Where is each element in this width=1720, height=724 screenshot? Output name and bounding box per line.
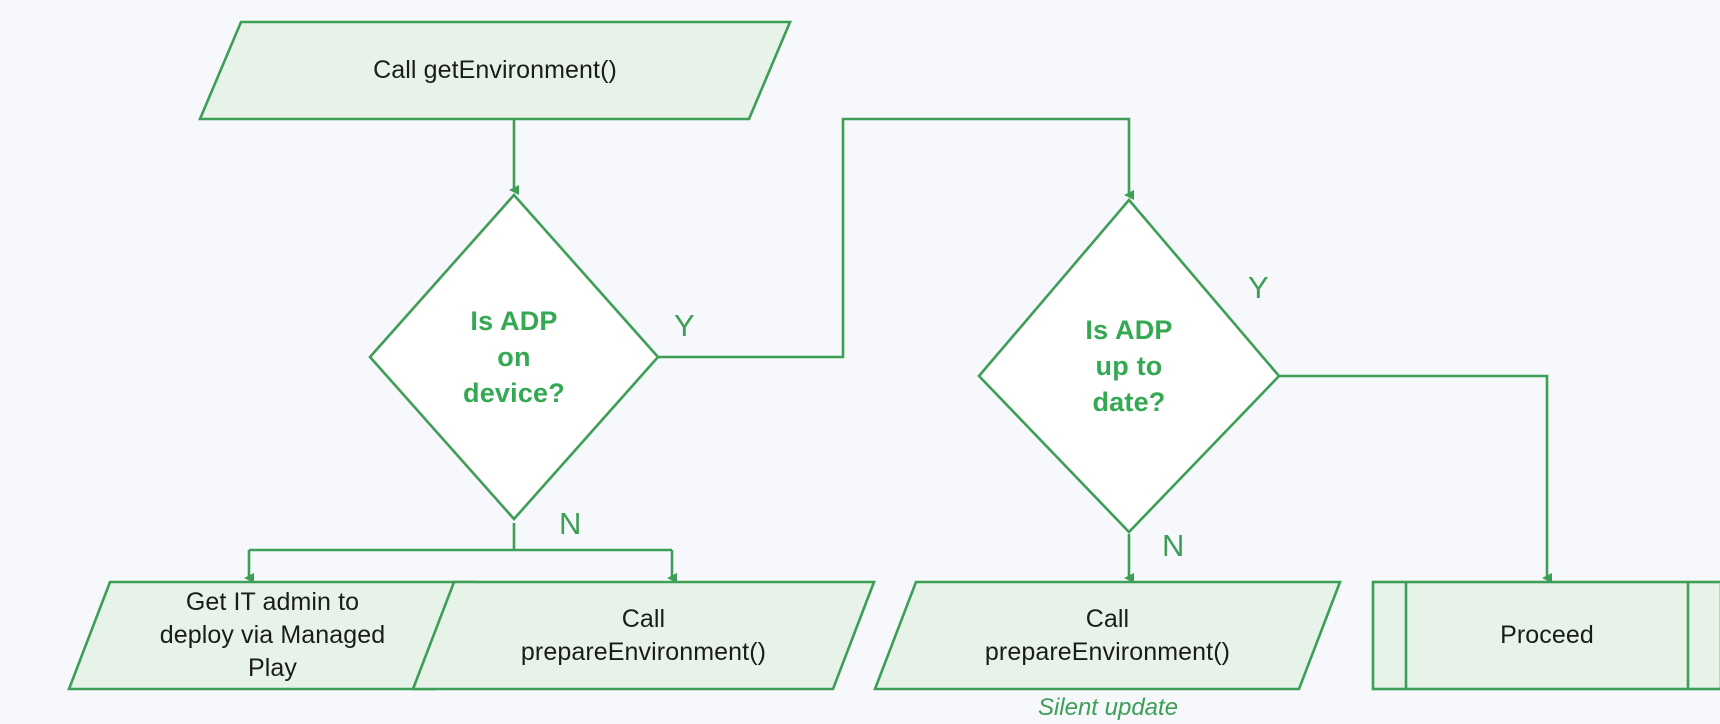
node-get-it-admin-deploy[interactable] (69, 582, 476, 689)
node-is-adp-on-device[interactable] (370, 195, 658, 519)
flowchart-svg (0, 0, 1720, 724)
flowchart-canvas: Call getEnvironment() Is ADP on device? … (0, 0, 1720, 724)
node-is-adp-up-to-date[interactable] (979, 200, 1279, 532)
node-call-prepare-environment-right[interactable] (875, 582, 1340, 689)
node-call-get-environment[interactable] (200, 22, 790, 119)
edge-up-to-date-yes (1279, 376, 1547, 578)
node-call-prepare-environment-left[interactable] (413, 582, 874, 689)
node-proceed[interactable] (1373, 582, 1720, 689)
